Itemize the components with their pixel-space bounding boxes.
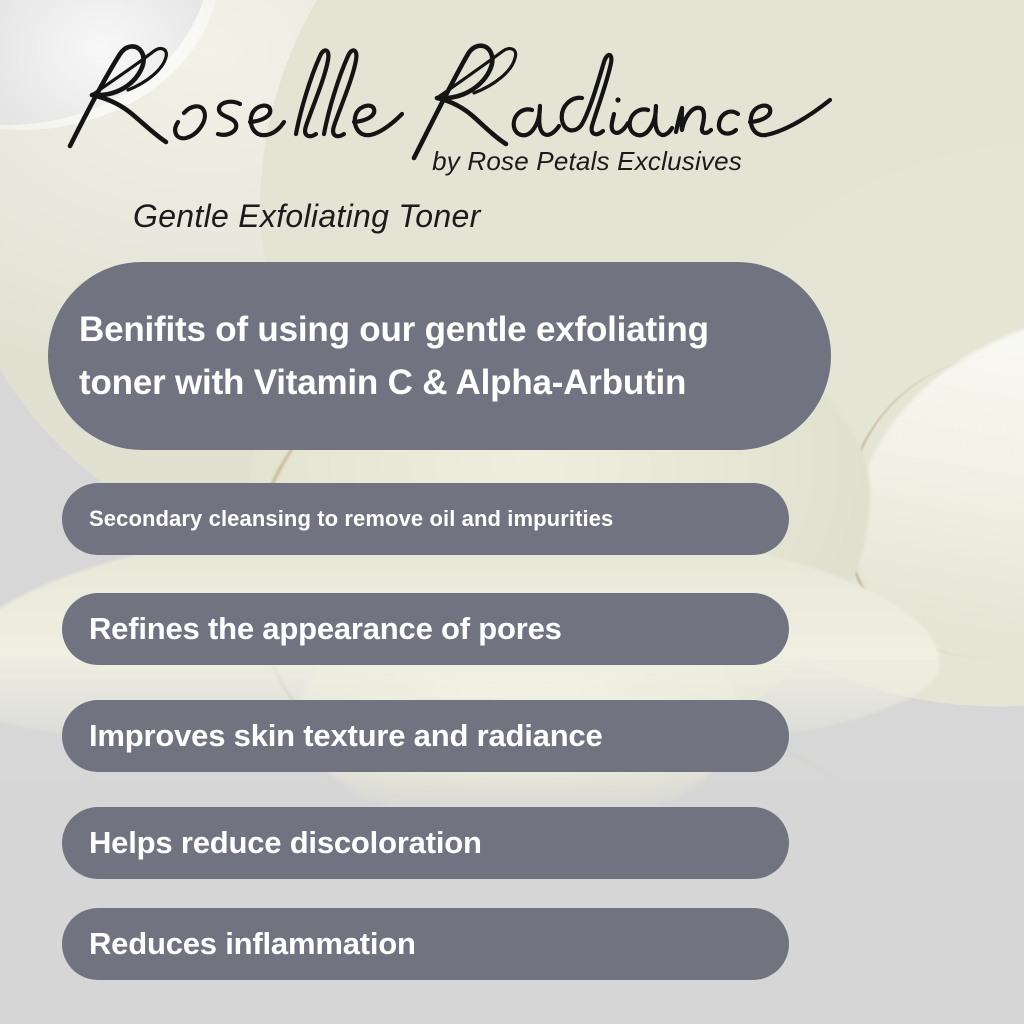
brand-byline: by Rose Petals Exclusives <box>0 146 742 177</box>
benefit-pill-2: Refines the appearance of pores <box>62 593 789 665</box>
benefit-pill-3: Improves skin texture and radiance <box>62 700 789 772</box>
benefit-text-5: Reduces inflammation <box>89 926 416 962</box>
product-benefits-poster: by Rose Petals Exclusives Gentle Exfolia… <box>0 0 1024 1024</box>
product-line-label: Gentle Exfoliating Toner <box>133 198 481 235</box>
benefit-pill-5: Reduces inflammation <box>62 908 789 980</box>
benefit-text-2: Refines the appearance of pores <box>89 611 562 647</box>
benefit-text-3: Improves skin texture and radiance <box>89 718 603 754</box>
benefit-text-1: Secondary cleansing to remove oil and im… <box>89 506 613 532</box>
benefit-text-4: Helps reduce discoloration <box>89 825 482 861</box>
brand-script-logo <box>62 38 702 163</box>
benefits-heading-pill: Benifits of using our gentle exfoliating… <box>48 262 831 450</box>
benefit-pill-4: Helps reduce discoloration <box>62 807 789 879</box>
benefit-pill-1: Secondary cleansing to remove oil and im… <box>62 483 789 555</box>
benefits-heading-text: Benifits of using our gentle exfoliating… <box>79 303 787 409</box>
background-grey-floor <box>0 760 1024 1024</box>
